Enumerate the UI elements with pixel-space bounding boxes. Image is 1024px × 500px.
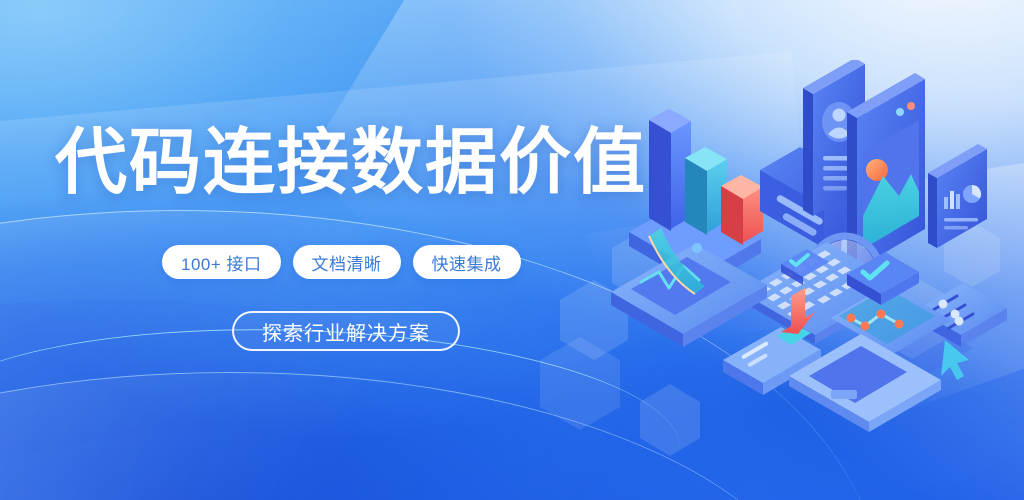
hero-copy: 代码连接数据价值 100+ 接口 文档清晰 快速集成 探索行业解决方案 [0,0,660,500]
explore-solutions-button[interactable]: 探索行业解决方案 [232,311,460,351]
hero-banner: 代码连接数据价值 100+ 接口 文档清晰 快速集成 探索行业解决方案 [0,0,1024,500]
analytics-card [928,144,987,248]
feature-pill-api-count[interactable]: 100+ 接口 [162,245,281,279]
feature-pill-clear-docs[interactable]: 文档清晰 [293,245,401,279]
analytics-card-donut [963,185,981,203]
feature-pill-fast-integration[interactable]: 快速集成 [413,245,521,279]
page-title: 代码连接数据价值 [55,124,647,203]
feature-pill-list: 100+ 接口 文档清晰 快速集成 [162,245,521,279]
